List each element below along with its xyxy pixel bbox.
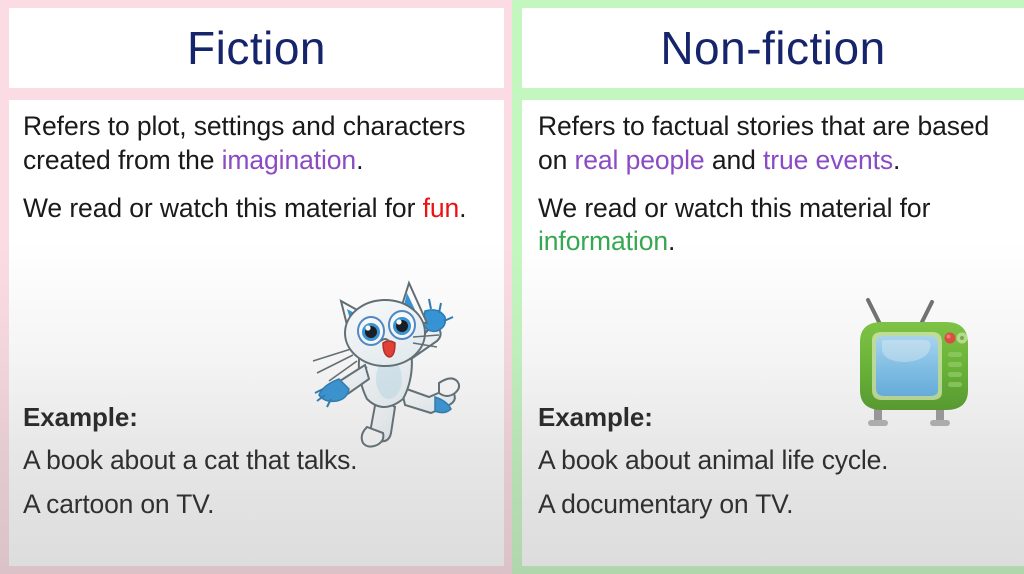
fiction-purpose-lead: We read or watch this material for <box>23 193 423 223</box>
nonfiction-example-2: A documentary on TV. <box>538 489 1016 521</box>
nonfiction-definition-period: . <box>893 145 900 175</box>
highlight-true-events: true events <box>763 145 893 175</box>
page-title-fiction: Fiction <box>187 25 326 71</box>
nonfiction-purpose: We read or watch this material for infor… <box>538 192 1010 260</box>
comparison-slide: Fiction Refers to plot, settings and cha… <box>0 0 1024 574</box>
fiction-example-1: A book about a cat that talks. <box>23 445 496 477</box>
nonfiction-title-card: Non-fiction <box>522 8 1024 88</box>
fiction-example-block: Example: A book about a cat that talks. … <box>23 402 496 533</box>
fiction-purpose-period: . <box>459 193 466 223</box>
nonfiction-example-label: Example: <box>538 402 1016 433</box>
nonfiction-definition-and: and <box>705 145 763 175</box>
fiction-body-card: Refers to plot, settings and characters … <box>9 100 504 566</box>
nonfiction-example-1: A book about animal life cycle. <box>538 445 1016 477</box>
fiction-definition: Refers to plot, settings and characters … <box>23 110 490 178</box>
highlight-imagination: imagination <box>222 145 356 175</box>
nonfiction-purpose-lead: We read or watch this material for <box>538 193 930 223</box>
column-nonfiction: Non-fiction Refers to factual stories th… <box>512 0 1024 574</box>
page-title-nonfiction: Non-fiction <box>660 25 885 71</box>
nonfiction-body-card: Refers to factual stories that are based… <box>522 100 1024 566</box>
highlight-information: information <box>538 226 668 256</box>
highlight-real-people: real people <box>575 145 705 175</box>
nonfiction-example-block: Example: A book about animal life cycle.… <box>538 402 1016 533</box>
fiction-definition-period: . <box>356 145 363 175</box>
highlight-fun: fun <box>423 193 460 223</box>
nonfiction-purpose-period: . <box>668 226 675 256</box>
fiction-example-2: A cartoon on TV. <box>23 489 496 521</box>
fiction-purpose: We read or watch this material for fun. <box>23 192 490 226</box>
fiction-title-card: Fiction <box>9 8 504 88</box>
column-fiction: Fiction Refers to plot, settings and cha… <box>0 0 512 574</box>
nonfiction-definition: Refers to factual stories that are based… <box>538 110 1010 178</box>
fiction-example-label: Example: <box>23 402 496 433</box>
